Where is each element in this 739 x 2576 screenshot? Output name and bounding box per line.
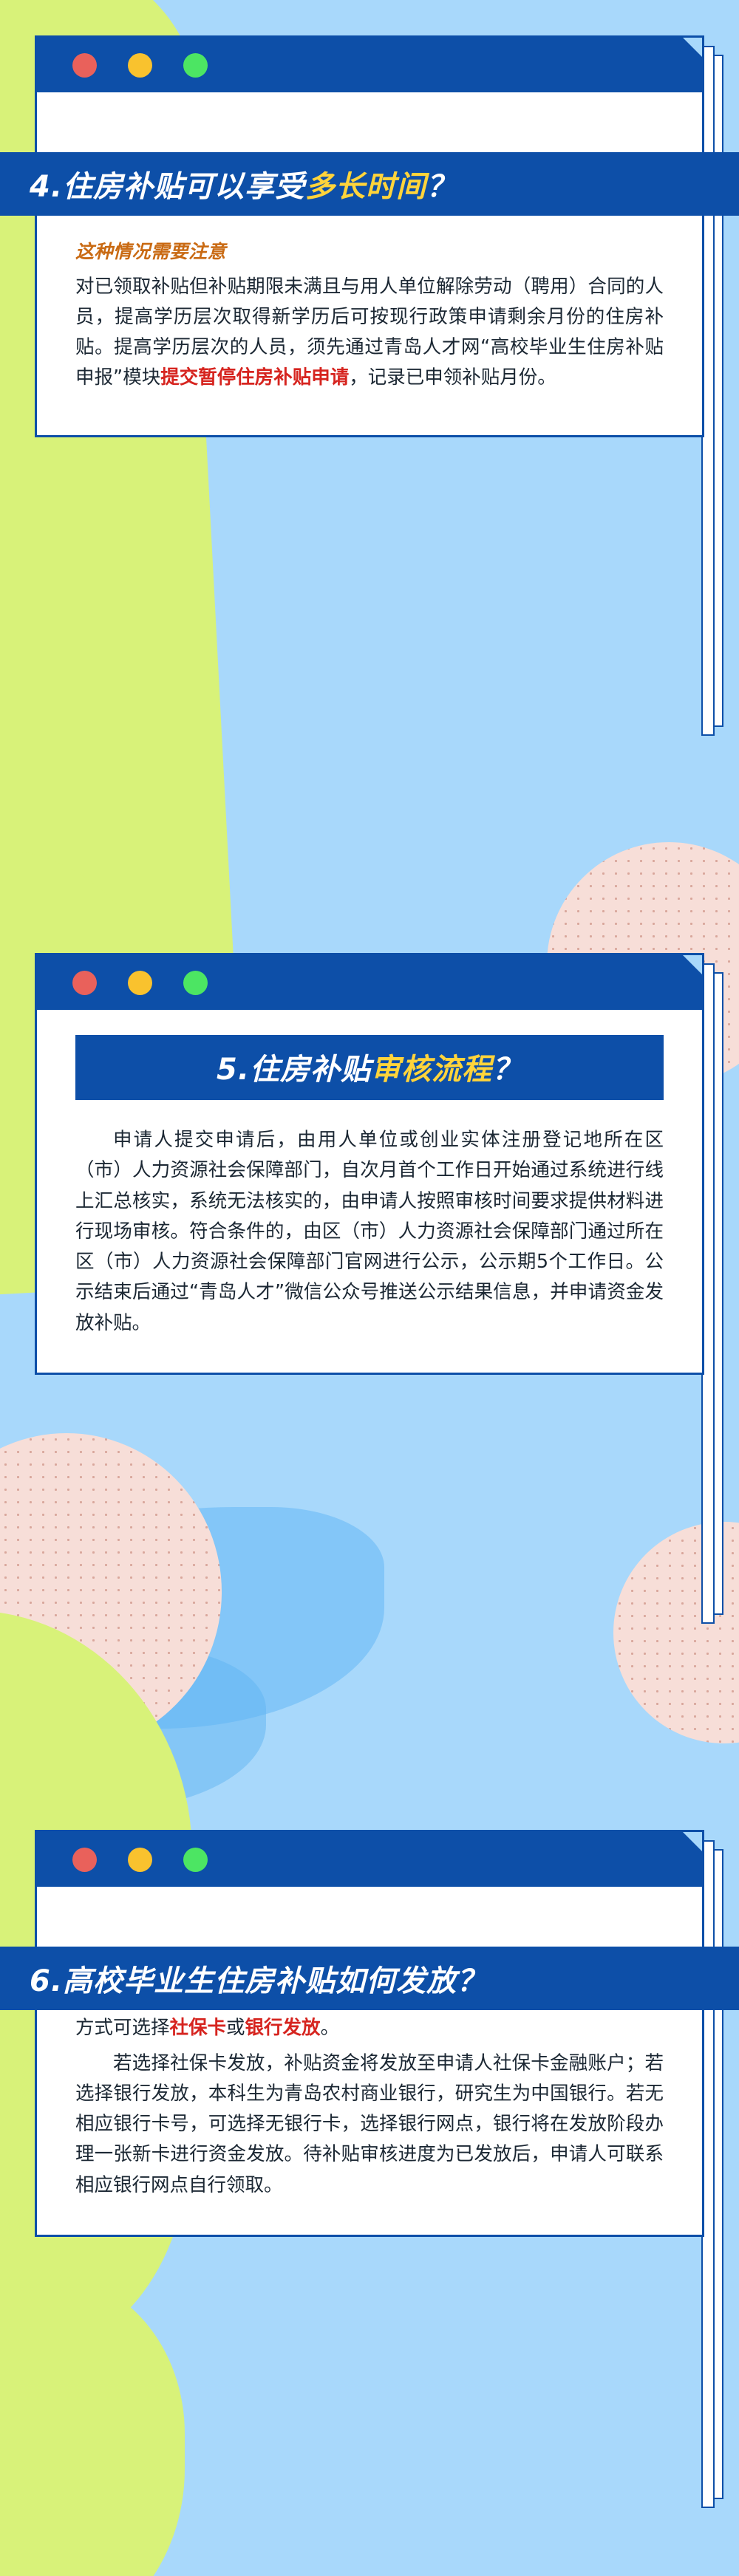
maximize-icon[interactable]: [183, 53, 208, 78]
section-card-6: 申请人在申报高校毕业生住房补贴时需要填写补贴发放方式。发放方式可选择社保卡或银行…: [35, 1830, 704, 2237]
page-fold-corner-icon: [683, 1832, 702, 1851]
window-titlebar-4: [37, 38, 702, 92]
close-icon[interactable]: [72, 971, 97, 995]
maximize-icon[interactable]: [183, 1848, 208, 1872]
section-5-banner: 5.住房补贴审核流程？: [75, 1035, 664, 1100]
section-5-title-highlight: 审核流程: [371, 1053, 492, 1087]
section-4-paragraph-highlight: 提交暂停住房补贴申请: [160, 366, 349, 389]
section-card-4: 申请人自申领补贴月份起，可享受最长36个月的住房补贴。 这种情况需要注意 对已领…: [35, 35, 704, 437]
page-fold-corner-icon: [683, 955, 702, 974]
section-6-number: 6.: [30, 1964, 63, 1998]
section-6-p1-part-c: 或: [226, 2017, 245, 2039]
section-6-title-part1: 高校毕业生住房补贴如何发放？: [63, 1964, 487, 1998]
section-5-paragraph: 申请人提交申请后，由用人单位或创业实体注册登记地所在区（市）人力资源社会保障部门…: [75, 1125, 664, 1339]
section-6-paragraph-2: 若选择社保卡发放，补贴资金将发放至申请人社保卡金融账户；若选择银行发放，本科生为…: [75, 2049, 664, 2201]
window-titlebar-5: [37, 955, 702, 1010]
infographic-poster: 申请人自申领补贴月份起，可享受最长36个月的住房补贴。 这种情况需要注意 对已领…: [0, 0, 739, 2576]
section-6-title: 6.高校毕业生住房补贴如何发放？: [0, 1957, 487, 2000]
section-card-5: 5.住房补贴审核流程？ 申请人提交申请后，由用人单位或创业实体注册登记地所在区（…: [35, 953, 704, 1375]
section-6-p1-part-d: 。: [321, 2017, 340, 2039]
decor-dotted-circle-left: [0, 1433, 222, 1751]
section-4-title-highlight: 多长时间: [305, 170, 426, 204]
section-4-subhead: 这种情况需要注意: [75, 237, 664, 267]
section-4-paragraph-part2: ，记录已申领补贴月份。: [349, 366, 556, 389]
section-4-title-part2: ？: [426, 170, 457, 204]
section-5-title: 5.住房补贴审核流程？: [75, 1045, 664, 1088]
maximize-icon[interactable]: [183, 971, 208, 995]
section-4-title-part1: 住房补贴可以享受: [63, 170, 305, 204]
section-6-p1-highlight-3: 银行发放: [245, 2017, 321, 2039]
section-5-title-part1: 住房补贴: [250, 1053, 371, 1087]
decor-blue-wave: [0, 1507, 384, 1729]
decor-lime-blob-bottom: [0, 2275, 185, 2576]
minimize-icon[interactable]: [128, 1848, 152, 1872]
minimize-icon[interactable]: [128, 53, 152, 78]
close-icon[interactable]: [72, 53, 97, 78]
window-frame-4: 申请人自申领补贴月份起，可享受最长36个月的住房补贴。 这种情况需要注意 对已领…: [35, 35, 704, 437]
section-6-p1-highlight-2: 社保卡: [170, 2017, 227, 2039]
close-icon[interactable]: [72, 1848, 97, 1872]
section-4-paragraph: 对已领取补贴但补贴期限未满且与用人单位解除劳动（聘用）合同的人员，提高学历层次取…: [75, 272, 664, 394]
window-frame-6: 申请人在申报高校毕业生住房补贴时需要填写补贴发放方式。发放方式可选择社保卡或银行…: [35, 1830, 704, 2237]
window-titlebar-6: [37, 1832, 702, 1887]
decor-blue-wave-2: [0, 1647, 266, 1810]
section-5-number: 5.: [217, 1053, 250, 1087]
minimize-icon[interactable]: [128, 971, 152, 995]
page-fold-corner-icon: [683, 38, 702, 57]
window-frame-5: 5.住房补贴审核流程？ 申请人提交申请后，由用人单位或创业实体注册登记地所在区（…: [35, 953, 704, 1375]
section-6-banner: 6.高校毕业生住房补贴如何发放？: [0, 1947, 739, 2010]
section-5-body: 申请人提交申请后，由用人单位或创业实体注册登记地所在区（市）人力资源社会保障部门…: [37, 1100, 702, 1373]
section-5-title-part2: ？: [492, 1053, 522, 1087]
section-4-banner: 4.住房补贴可以享受多长时间？: [0, 152, 739, 216]
section-4-title: 4.住房补贴可以享受多长时间？: [0, 163, 457, 205]
card-stack-edge-2: [713, 972, 723, 1615]
section-4-number: 4.: [30, 170, 63, 204]
